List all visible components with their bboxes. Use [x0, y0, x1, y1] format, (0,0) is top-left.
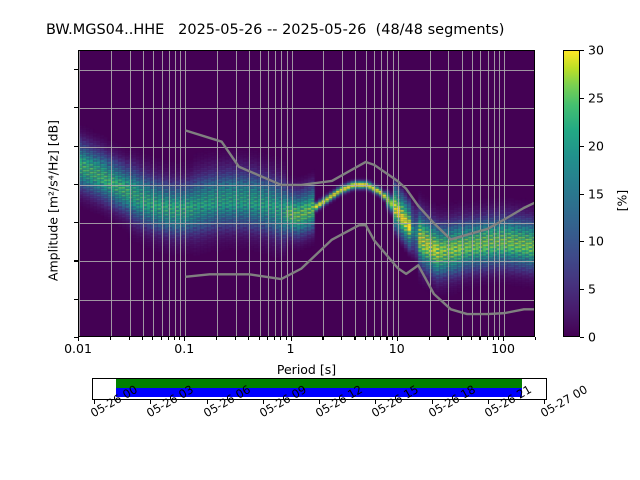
x-tick-mark-minor — [461, 337, 462, 340]
x-axis-label: Period [s] — [78, 362, 535, 377]
x-tick-mark-minor — [322, 337, 323, 340]
x-tick-mark-minor — [392, 337, 393, 340]
x-tick-mark-minor — [447, 337, 448, 340]
x-tick-mark-minor — [161, 337, 162, 340]
time-coverage-strip[interactable] — [92, 378, 547, 400]
y-tick-mark — [74, 146, 78, 147]
colorbar-tick-label: 0 — [588, 330, 596, 345]
x-tick-mark-minor — [142, 337, 143, 340]
x-tick-mark-minor — [129, 337, 130, 340]
x-tick-mark-minor — [216, 337, 217, 340]
x-tick-label: 0.01 — [64, 341, 92, 356]
ppsd-plot-area[interactable] — [78, 50, 535, 337]
x-tick-mark-minor — [341, 337, 342, 340]
noise-model-nhnm — [185, 130, 534, 239]
x-tick-mark-minor — [493, 337, 494, 340]
x-tick-mark-minor — [380, 337, 381, 340]
colorbar-tick-mark — [580, 50, 584, 51]
colorbar-tick-label: 25 — [588, 90, 604, 105]
noise-model-nlnm — [185, 225, 534, 314]
y-tick-mark — [74, 299, 78, 300]
page-title: BW.MGS04..HHE 2025-05-26 -- 2025-05-26 (… — [46, 22, 504, 38]
x-tick-mark-minor — [479, 337, 480, 340]
x-tick-mark-minor — [471, 337, 472, 340]
colorbar-tick-mark — [580, 337, 584, 338]
x-tick-mark-minor — [498, 337, 499, 340]
colorbar-tick-mark — [580, 146, 584, 147]
y-axis-label: Amplitude [m²/s⁴/Hz] [dB] — [46, 61, 61, 341]
noise-model-curves — [79, 51, 534, 336]
colorbar-unit-label: [%] — [615, 181, 630, 221]
y-tick-mark — [74, 260, 78, 261]
x-tick-mark-minor — [168, 337, 169, 340]
x-tick-mark-minor — [429, 337, 430, 340]
x-tick-mark-minor — [354, 337, 355, 340]
x-tick-mark-minor — [487, 337, 488, 340]
x-tick-mark-minor — [267, 337, 268, 340]
y-tick-mark — [74, 222, 78, 223]
x-tick-mark-minor — [235, 337, 236, 340]
x-tick-label: 1 — [287, 341, 295, 356]
x-tick-label: 10 — [389, 341, 405, 356]
y-tick-mark — [74, 184, 78, 185]
colorbar-tick-mark — [580, 289, 584, 290]
ppsd-figure: BW.MGS04..HHE 2025-05-26 -- 2025-05-26 (… — [0, 0, 640, 480]
x-tick-mark-minor — [373, 337, 374, 340]
colorbar-tick-mark — [580, 194, 584, 195]
x-tick-mark-minor — [259, 337, 260, 340]
x-tick-mark-minor — [280, 337, 281, 340]
x-tick-mark-minor — [152, 337, 153, 340]
x-tick-mark-minor — [248, 337, 249, 340]
x-tick-mark-minor — [174, 337, 175, 340]
x-tick-mark-minor — [535, 337, 536, 340]
y-tick-mark — [74, 69, 78, 70]
colorbar-tick-label: 10 — [588, 234, 604, 249]
x-tick-mark-minor — [110, 337, 111, 340]
colorbar-tick-label: 30 — [588, 43, 604, 58]
x-tick-mark-minor — [179, 337, 180, 340]
x-tick-mark-minor — [386, 337, 387, 340]
x-tick-label: 100 — [491, 341, 515, 356]
colorbar-tick-label: 20 — [588, 138, 604, 153]
y-tick-mark — [74, 107, 78, 108]
colorbar-tick-label: 5 — [588, 282, 596, 297]
x-tick-label: 0.1 — [174, 341, 194, 356]
x-tick-mark-minor — [274, 337, 275, 340]
colorbar-tick-mark — [580, 98, 584, 99]
ppsd-canvas-wrap — [79, 51, 534, 336]
x-tick-mark-minor — [286, 337, 287, 340]
x-tick-mark-minor — [365, 337, 366, 340]
colorbar-tick-mark — [580, 241, 584, 242]
colorbar — [563, 50, 580, 337]
colorbar-tick-label: 15 — [588, 186, 604, 201]
